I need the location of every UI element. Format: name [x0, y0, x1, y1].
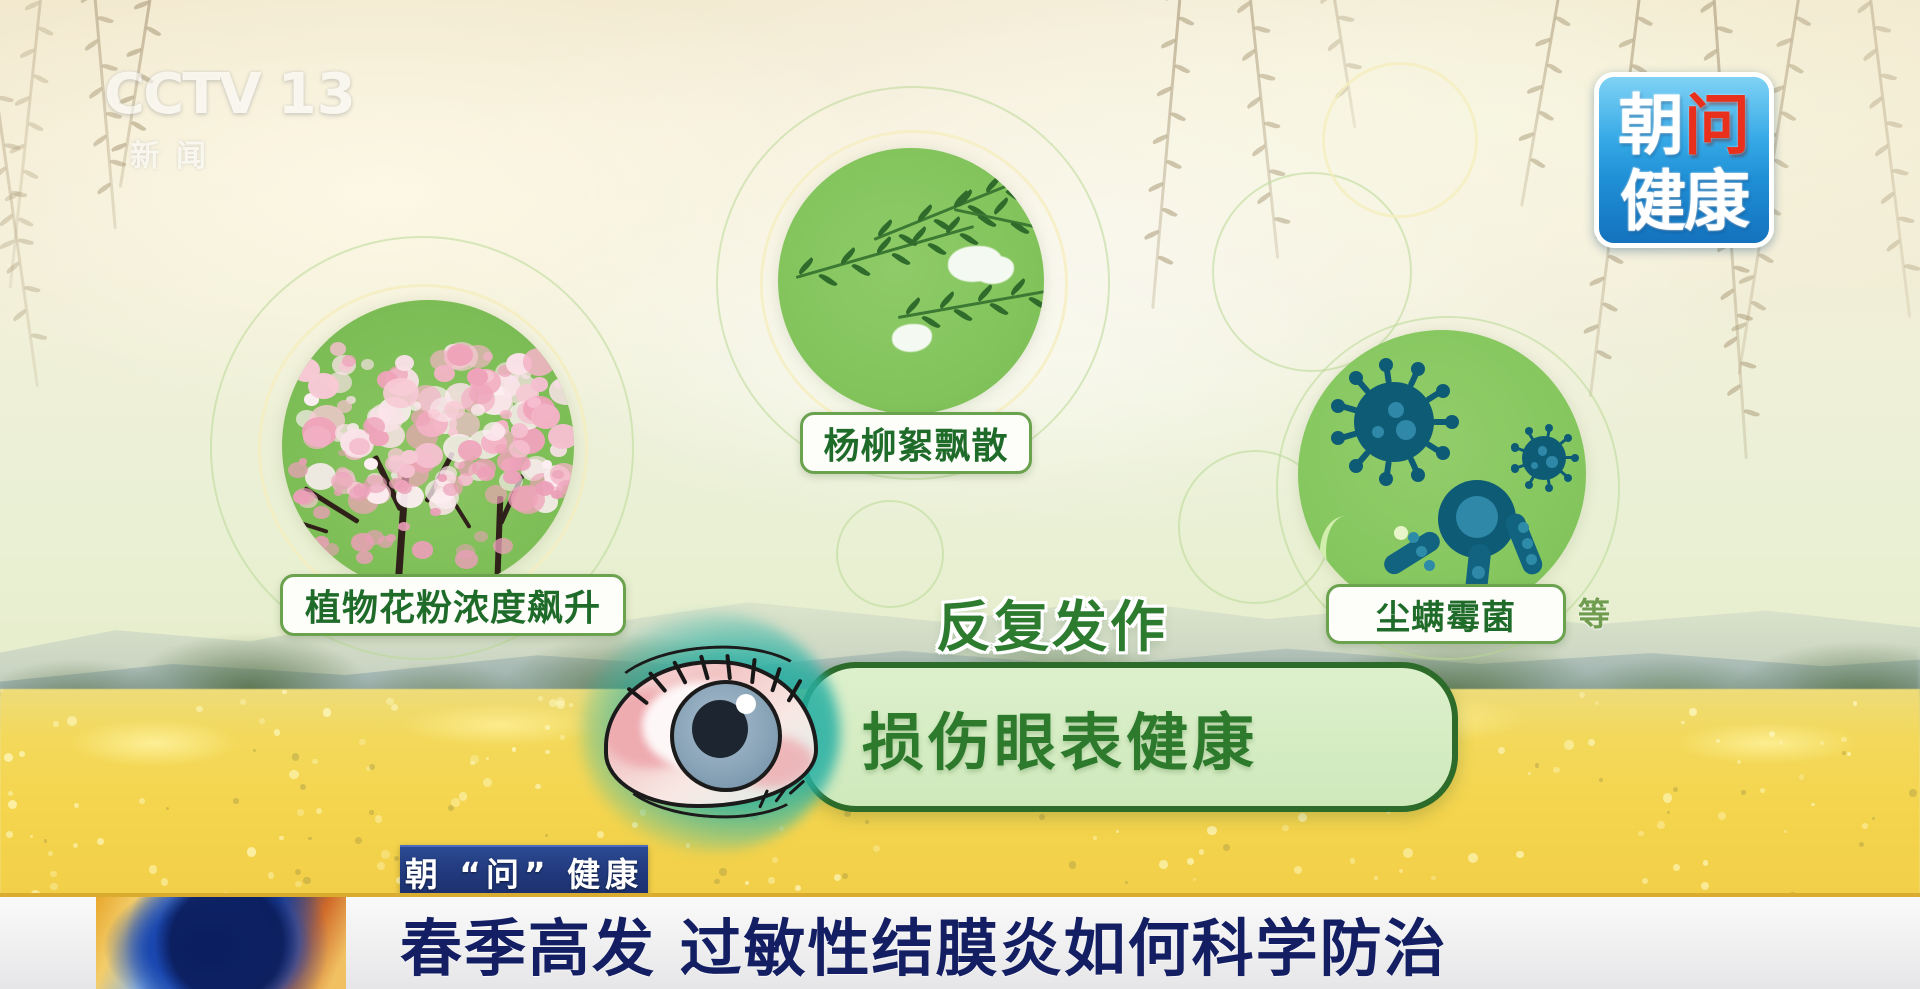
label-willow-text: 杨柳絮飘散	[823, 417, 1008, 469]
willow-leaf-shape	[851, 261, 870, 278]
blossom-cluster	[535, 481, 554, 496]
blossom-cluster	[351, 533, 374, 551]
willow-leaf	[1345, 61, 1362, 70]
willow-leaf	[1788, 62, 1804, 75]
willow-leaf	[97, 14, 114, 24]
virus-knob	[1379, 358, 1393, 372]
blossom-cluster	[549, 377, 574, 405]
willow-branch	[0, 60, 40, 387]
cctv-watermark: CCTV 13 新闻	[104, 62, 314, 170]
broadcast-screenshot: 植物花粉浓度飙升 杨柳絮飘散 尘螨霉菌 等 反复发作 损伤眼表健康 CCTV	[0, 0, 1920, 989]
blossom-cluster	[399, 464, 415, 477]
news-headline: 春季高发 过敏性结膜炎如何科学防治	[400, 898, 1448, 988]
willow-leaf	[1880, 72, 1897, 82]
willow-leaf	[1733, 264, 1750, 275]
blossom-cluster	[428, 409, 440, 419]
willow-leaf	[1338, 14, 1355, 23]
virus-knob	[1545, 484, 1553, 492]
willow-leaf	[1166, 158, 1182, 171]
program-tag-text: 朝 “问” 健康	[405, 848, 643, 896]
germ-highlight-dot	[1394, 526, 1408, 540]
virus-inner-dot	[1546, 456, 1558, 468]
cctv-channel-number: 13	[278, 62, 356, 127]
willow-branch	[1868, 0, 1912, 318]
blossom-cluster	[349, 438, 369, 455]
willow-leaf	[1637, 15, 1653, 28]
blossom-cluster	[556, 480, 574, 499]
virus-inner-dot	[1396, 420, 1416, 440]
willow-leaf-shape	[891, 251, 910, 268]
label-dustmite-suffix: 等	[1578, 589, 1610, 635]
willow-leaf	[1170, 110, 1186, 123]
willow-leaf	[1898, 215, 1915, 225]
willow-leaf-shape	[927, 240, 946, 257]
circle-pollen-blossom	[282, 300, 574, 592]
willow-branch	[1520, 0, 1564, 207]
blossom-cluster	[398, 522, 410, 531]
bacillus-dot	[1518, 522, 1529, 533]
willow-leaf	[1608, 253, 1624, 266]
blossom-cluster	[523, 348, 556, 376]
blossom-cluster	[472, 459, 495, 478]
virus-inner-dot	[1538, 446, 1547, 455]
blossom-cluster	[500, 410, 511, 420]
willow-leaf	[1555, 15, 1571, 28]
damage-banner-text: 损伤眼表健康	[862, 692, 1258, 782]
willow-leaf	[1538, 109, 1554, 122]
blossom-cluster	[456, 544, 475, 559]
blossom-cluster	[363, 417, 385, 436]
blossom-cluster	[292, 342, 302, 351]
willow-leaf	[1743, 408, 1760, 419]
bacillus-dot	[1408, 532, 1419, 543]
blossom-cluster	[469, 384, 493, 404]
blossom-cluster	[303, 426, 331, 450]
blossom-cluster	[313, 548, 330, 562]
willow-leaf	[1781, 109, 1797, 122]
virus-knob	[1331, 431, 1345, 445]
virus-knob	[1436, 384, 1450, 398]
willow-leaf	[1162, 206, 1178, 219]
willow-leaf	[1602, 301, 1618, 314]
willow-leaf	[1796, 15, 1812, 28]
willow-leaf-shape	[1005, 188, 1024, 205]
ticker-globe-ornament	[96, 897, 346, 989]
bacillus-dot	[1424, 560, 1435, 571]
decor-ring	[1322, 62, 1478, 218]
bacillus-dot	[1522, 538, 1533, 549]
virus-knob	[1411, 362, 1425, 376]
willow-leaf	[1904, 262, 1920, 272]
blossom-cluster	[294, 488, 315, 505]
blossom-cluster	[548, 424, 574, 449]
willow-leaf	[28, 120, 44, 133]
virus-knob	[1436, 446, 1450, 460]
willow-catkin	[892, 324, 932, 352]
blossom-cluster	[395, 355, 414, 371]
willow-leaf	[1716, 25, 1733, 36]
willow-leaf	[1596, 348, 1612, 361]
willow-branch	[1151, 0, 1184, 309]
willow-leaf	[1264, 120, 1281, 130]
blossom-cluster	[495, 444, 507, 454]
blossom-cluster	[330, 342, 346, 356]
blossom-cluster	[389, 478, 403, 490]
microbe-tail-dot	[1472, 566, 1485, 579]
willow-leaf	[1874, 24, 1891, 34]
virus-inner-dot	[1388, 402, 1404, 418]
willow-leaf	[1886, 120, 1903, 130]
label-dustmite-text: 尘螨霉菌	[1376, 590, 1516, 639]
virus-knob	[1545, 424, 1553, 432]
virus-knob	[1564, 434, 1572, 442]
cctv-wordmark: CCTV	[104, 62, 260, 127]
blossom-cluster	[558, 524, 573, 536]
willow-leaf	[1758, 252, 1774, 265]
willow-leaf	[146, 25, 162, 38]
label-willow: 杨柳絮飘散	[800, 412, 1032, 474]
blossom-cluster	[313, 506, 330, 520]
blossom-cluster	[493, 538, 513, 554]
willow-leaf-shape	[1031, 204, 1044, 222]
willow-leaf	[23, 168, 39, 181]
willow-leaf-shape	[953, 307, 972, 324]
blossom-cluster	[531, 377, 548, 392]
news-ticker-bar: 春季高发 过敏性结膜炎如何科学防治	[0, 893, 1920, 989]
virus-knob	[1331, 399, 1345, 413]
microbe-nucleus	[1456, 496, 1498, 538]
willow-leaf	[1530, 156, 1546, 169]
label-pollen: 植物花粉浓度飙升	[280, 574, 626, 636]
blossom-cluster	[414, 443, 443, 468]
blossom-cluster	[513, 457, 531, 471]
irritated-eye-illustration	[580, 612, 840, 852]
willow-leaf	[1178, 15, 1194, 28]
virus-knob	[1564, 474, 1572, 482]
virus-inner-dot	[1372, 426, 1384, 438]
blossom-cluster	[388, 448, 404, 462]
willow-leaf	[33, 72, 49, 85]
willow-leaf	[1157, 254, 1173, 267]
willow-leaf	[1259, 72, 1276, 82]
willow-leaf	[38, 25, 54, 38]
germ-highlight-arc	[1320, 516, 1372, 586]
willow-leaf-shape	[991, 197, 1010, 215]
bacillus-dot	[1526, 554, 1537, 565]
blossom-cluster	[430, 508, 441, 516]
blossom-cluster	[471, 404, 485, 416]
blossom-cluster	[299, 458, 308, 465]
virus-knob	[1525, 481, 1533, 489]
willow-catkin	[974, 256, 1014, 284]
blossom-cluster	[308, 373, 339, 399]
willow-leaf	[1892, 167, 1909, 177]
decor-ring	[836, 500, 944, 608]
willow-leaf-shape	[989, 301, 1008, 318]
virus-knob	[1511, 464, 1519, 472]
willow-leaf	[18, 216, 34, 229]
cctv-sub-label: 新闻	[130, 131, 314, 175]
blossom-cluster	[386, 534, 395, 542]
blossom-cluster	[364, 458, 378, 470]
blossom-cluster	[511, 423, 528, 437]
willow-leaf	[1254, 24, 1271, 34]
blossom-cluster	[474, 531, 489, 543]
willow-leaf	[1174, 63, 1190, 76]
virus-knob	[1379, 472, 1393, 486]
cctv-divider	[261, 63, 277, 113]
willow-leaf-shape	[959, 230, 978, 247]
willow-leaf	[31, 332, 48, 342]
willow-leaf	[1547, 62, 1563, 75]
repeat-attack-text: 反复发作	[936, 582, 1168, 662]
blossom-cluster	[361, 359, 374, 370]
willow-leaf	[0, 94, 14, 104]
willow-leaf-shape	[1028, 294, 1044, 311]
damage-banner: 损伤眼表健康	[800, 662, 1458, 812]
virus-bacteria-icon	[1298, 330, 1586, 618]
virus-knob	[1571, 454, 1579, 462]
blossom-cluster	[331, 472, 353, 490]
willow-leaf	[17, 237, 34, 247]
blossom-cluster	[531, 404, 560, 429]
program-logo: 朝 问 健康	[1594, 72, 1774, 248]
circle-dustmite-mold	[1298, 330, 1586, 618]
willow-branch-stroke	[898, 290, 1044, 319]
willow-leaf	[1751, 299, 1767, 312]
blossom-cluster	[458, 440, 482, 461]
circle-willow-catkin	[778, 148, 1044, 414]
virus-knob	[1349, 459, 1363, 473]
virus-knob	[1445, 415, 1459, 429]
virus-knob	[1511, 443, 1519, 451]
blossom-cluster	[552, 470, 564, 480]
bacillus-dot	[1416, 546, 1427, 557]
label-dustmite: 尘螨霉菌	[1326, 584, 1566, 644]
program-logo-char-jiankang: 健康	[1620, 148, 1748, 244]
blossom-cluster	[383, 378, 419, 409]
label-pollen-text: 植物花粉浓度飙升	[305, 579, 601, 631]
cherry-blossom-tree-icon	[282, 300, 574, 592]
blossom-cluster	[467, 368, 488, 386]
blossom-cluster	[356, 551, 373, 565]
blossom-cluster	[509, 440, 530, 458]
blossom-cluster	[483, 422, 506, 441]
blossom-cluster	[412, 541, 434, 558]
willow-leaf-shape	[819, 271, 838, 288]
virus-knob	[1411, 468, 1425, 482]
program-tag-banner: 朝 “问” 健康	[400, 845, 648, 897]
willow-leaf	[24, 284, 41, 294]
blossom-cluster	[438, 474, 447, 481]
willow-leaf	[1773, 157, 1789, 170]
willow-catkin-branch-icon	[778, 148, 1044, 414]
blossom-cluster	[337, 400, 352, 413]
willow-stem	[1520, 0, 1563, 207]
blossom-cluster	[443, 483, 459, 496]
